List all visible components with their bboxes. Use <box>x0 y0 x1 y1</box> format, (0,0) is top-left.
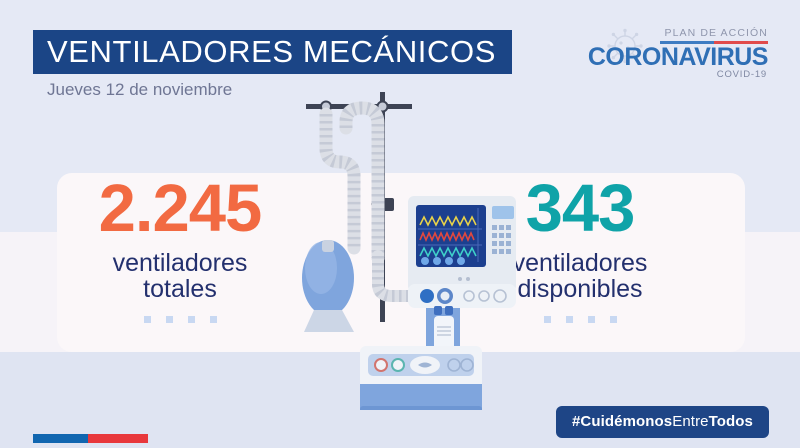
coronavirus-plan-logo: PLAN DE ACCIÓN CORONAVIRUS COVID-19 <box>595 26 770 82</box>
dot <box>610 316 617 323</box>
cart-button-red <box>375 359 387 371</box>
page-title: VENTILADORES MECÁNICOS <box>47 34 496 70</box>
bag-base <box>304 310 354 332</box>
dot <box>166 316 173 323</box>
logo-plan-text: PLAN DE ACCIÓN <box>664 27 768 39</box>
stat-ventiladores-totales: 2.245 ventiladores totales <box>30 176 330 323</box>
report-date: Jueves 12 de noviembre <box>47 80 232 100</box>
stat-total-value: 2.245 <box>30 176 330 242</box>
stat-total-dots <box>30 316 330 323</box>
logo-brand: CORONAVIRUS <box>588 43 768 72</box>
hashtag-part-1: #Cuidémonos <box>572 413 672 430</box>
monitor-badge <box>492 206 514 219</box>
flag-blue <box>33 434 88 443</box>
stat-total-label-line2: totales <box>30 276 330 303</box>
mechanical-ventilator-illustration <box>288 88 518 410</box>
flag-red <box>88 434 148 443</box>
dot <box>210 316 217 323</box>
cart-button-teal <box>392 359 404 371</box>
logo-covid-label: COVID-19 <box>717 69 767 80</box>
dot <box>566 316 573 323</box>
hashtag-part-2: Entre <box>672 413 708 430</box>
dot <box>188 316 195 323</box>
page-title-bar: VENTILADORES MECÁNICOS <box>33 30 512 74</box>
dot <box>544 316 551 323</box>
hashtag-badge: #CuidémonosEntreTodos <box>556 406 769 438</box>
hashtag-part-3: Todos <box>709 413 753 430</box>
chile-flag-bar <box>33 434 148 443</box>
humidifier-bottle <box>434 316 454 350</box>
stat-total-label: ventiladores totales <box>30 250 330 303</box>
dot <box>588 316 595 323</box>
control-knob-blue <box>420 289 434 303</box>
stat-total-label-line1: ventiladores <box>30 250 330 277</box>
dot <box>144 316 151 323</box>
